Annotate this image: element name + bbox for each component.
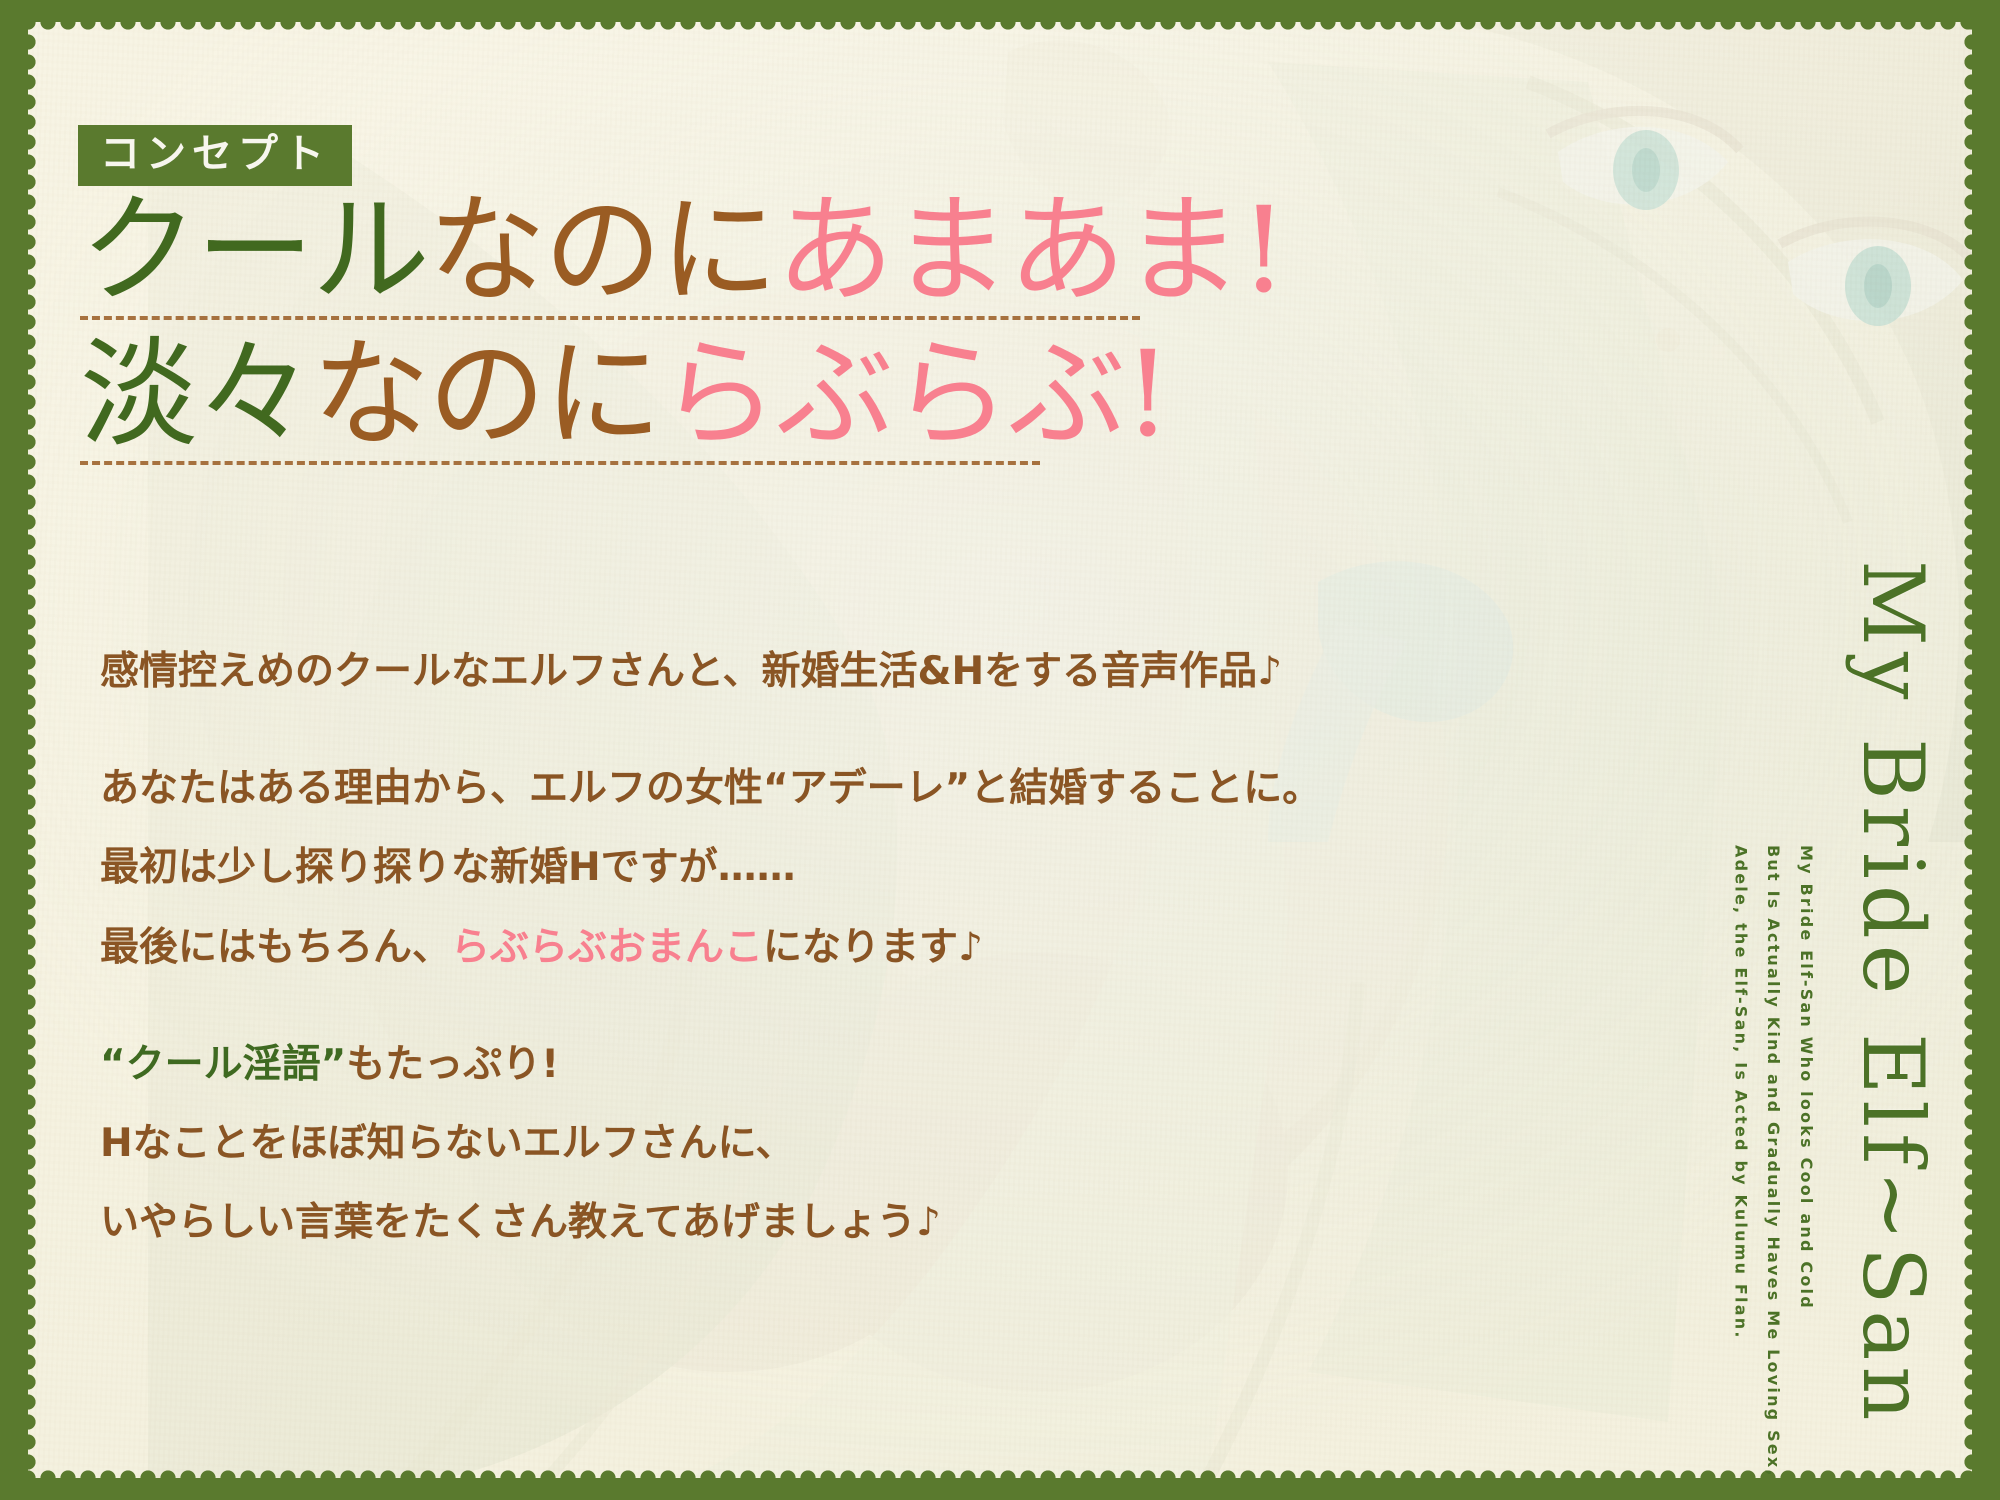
paragraph-3-line-3: いやらしい言葉をたくさん教えてあげましょう♪: [100, 1191, 1600, 1254]
headline-1-pink: あまあま!: [776, 181, 1285, 319]
vertical-subtitle-line-3: Adele, the Elf-San, Is Acted by Kulumu F…: [1724, 845, 1757, 1445]
paragraph-2-line-3-highlight: らぶらぶおまんこ: [451, 925, 763, 970]
headline-2-brown: なのに: [312, 325, 660, 463]
paragraph-2: あなたはある理由から、エルフの女性“アデーレ”と結婚することに。 最初は少し探り…: [100, 757, 1600, 979]
vertical-subtitle-line-1: My Bride Elf-San Who looks Cool and Cold: [1789, 845, 1822, 1445]
headline-line-1: クールなのにあまあま!: [80, 190, 1500, 310]
paragraph-3-line-2: Hなことをほぼ知らないエルフさんに、: [100, 1112, 1600, 1175]
paragraph-2-line-3-a: 最後にはもちろん、: [100, 925, 451, 970]
paragraph-1: 感情控えめのクールなエルフさんと、新婚生活&Hをする音声作品♪: [100, 640, 1600, 703]
headline-line-2: 淡々なのにらぶらぶ!: [80, 334, 1500, 454]
paragraph-3-line-1-highlight: “クール淫語”: [100, 1042, 346, 1087]
body-copy: 感情控えめのクールなエルフさんと、新婚生活&Hをする音声作品♪ あなたはある理由…: [100, 640, 1600, 1254]
paragraph-2-line-3: 最後にはもちろん、らぶらぶおまんこになります♪: [100, 916, 1600, 979]
headline-block: クールなのにあまあま! 淡々なのにらぶらぶ!: [80, 190, 1500, 479]
paragraph-3-line-1: “クール淫語”もたっぷり!: [100, 1033, 1600, 1096]
content-layer: コンセプト クールなのにあまあま! 淡々なのにらぶらぶ! 感情控えめのクールなエ…: [0, 0, 2000, 1500]
paragraph-2-line-1: あなたはある理由から、エルフの女性“アデーレ”と結婚することに。: [100, 757, 1600, 820]
paragraph-3-line-1-b: もたっぷり!: [346, 1042, 559, 1087]
vertical-subtitle: My Bride Elf-San Who looks Cool and Cold…: [1724, 845, 1822, 1445]
vertical-title: My Bride Elf~San: [1844, 560, 1942, 1426]
paragraph-3: “クール淫語”もたっぷり! Hなことをほぼ知らないエルフさんに、 いやらしい言葉…: [100, 1033, 1600, 1255]
paragraph-2-line-2: 最初は少し探り探りな新婚Hですが……: [100, 836, 1600, 899]
headline-2-pink: らぶらぶ!: [660, 325, 1169, 463]
headline-1-brown: なのに: [428, 181, 776, 319]
headline-divider-2: [80, 461, 1040, 465]
vertical-subtitle-line-2: But Is Actually Kind and Gradually Haves…: [1756, 845, 1789, 1445]
concept-badge: コンセプト: [78, 125, 352, 186]
paragraph-1-line-1: 感情控えめのクールなエルフさんと、新婚生活&Hをする音声作品♪: [100, 640, 1600, 703]
headline-1-green: クール: [80, 181, 428, 319]
promo-banner: コンセプト クールなのにあまあま! 淡々なのにらぶらぶ! 感情控えめのクールなエ…: [0, 0, 2000, 1500]
headline-divider-1: [80, 316, 1140, 320]
headline-2-green: 淡々: [80, 325, 312, 463]
paragraph-2-line-3-b: になります♪: [763, 925, 983, 970]
